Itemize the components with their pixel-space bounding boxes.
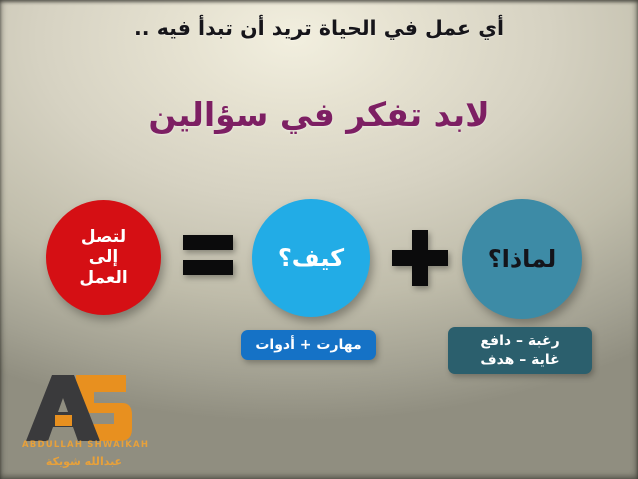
slide-title: أي عمل في الحياة تريد أن تبدأ فيه .. bbox=[0, 16, 638, 40]
caption-box-skills-tools: مهارت + أدوات bbox=[241, 330, 376, 360]
logo-caption-english: ABDULLAH SHWAIKAH bbox=[22, 440, 146, 450]
slide-subtitle: لابد تفكر في سؤالين bbox=[0, 95, 638, 134]
slide-canvas: أي عمل في الحياة تريد أن تبدأ فيه .. لاب… bbox=[0, 0, 638, 479]
equals-bar-bottom bbox=[183, 260, 233, 275]
result-circle-red: لتصل إلى العمل bbox=[46, 200, 161, 315]
result-line-1: لتصل bbox=[79, 227, 127, 247]
equals-sign-icon bbox=[183, 235, 233, 275]
plus-sign-icon bbox=[392, 230, 448, 286]
caption-motive-line-1: رغبة – دافع bbox=[480, 332, 559, 351]
caption-box-motive-goal: رغبة – دافع غاية – هدف bbox=[448, 327, 592, 374]
result-line-3: العمل bbox=[79, 268, 127, 288]
equals-bar-top bbox=[183, 235, 233, 250]
caption-motive-line-2: غاية – هدف bbox=[480, 351, 559, 370]
logo-caption-arabic: عبدالله شويكة bbox=[22, 455, 146, 468]
plus-horizontal-bar bbox=[392, 250, 448, 266]
question-why-label: لماذا؟ bbox=[488, 245, 557, 273]
question-how-label: كيف؟ bbox=[278, 244, 344, 272]
caption-skills-tools-text: مهارت + أدوات bbox=[255, 337, 361, 353]
result-circle-text: لتصل إلى العمل bbox=[79, 227, 127, 287]
question-circle-how: كيف؟ bbox=[252, 199, 370, 317]
question-circle-why: لماذا؟ bbox=[462, 199, 582, 319]
result-line-2: إلى bbox=[79, 247, 127, 267]
